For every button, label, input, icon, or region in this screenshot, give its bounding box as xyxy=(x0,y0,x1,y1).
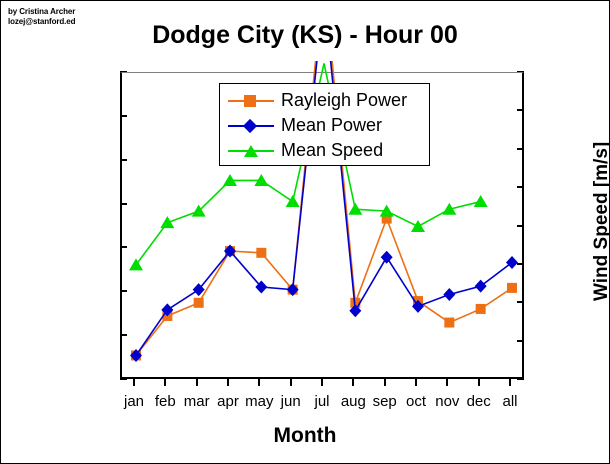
data-point-marker xyxy=(507,283,517,293)
y-axis-right-title: Wind Speed [m/s] xyxy=(591,81,610,301)
data-point-marker xyxy=(474,195,488,207)
author-name: by Cristina Archer xyxy=(8,7,75,16)
x-tick xyxy=(321,379,323,386)
x-axis-title: Month xyxy=(1,424,609,448)
data-point-marker xyxy=(160,216,174,228)
x-tick xyxy=(509,379,511,386)
series-line xyxy=(136,0,512,355)
data-point-marker xyxy=(443,288,455,301)
legend-swatch xyxy=(228,94,274,108)
x-tick xyxy=(415,379,417,386)
legend-label: Mean Speed xyxy=(281,140,383,161)
legend-item-rayleigh-power[interactable]: Rayleigh Power xyxy=(220,88,429,113)
data-point-marker xyxy=(506,256,518,269)
x-tick xyxy=(227,379,229,386)
x-tick xyxy=(478,379,480,386)
data-point-marker xyxy=(256,248,266,258)
series-line xyxy=(136,0,512,355)
x-tick xyxy=(196,379,198,386)
legend-swatch xyxy=(228,144,274,158)
x-tick xyxy=(290,379,292,386)
x-tick xyxy=(164,379,166,386)
data-point-marker xyxy=(129,258,143,270)
data-point-marker xyxy=(411,220,425,232)
x-tick xyxy=(352,379,354,386)
chart-legend: Rayleigh PowerMean PowerMean Speed xyxy=(219,83,430,166)
legend-item-mean-speed[interactable]: Mean Speed xyxy=(220,138,429,163)
legend-label: Mean Power xyxy=(281,115,382,136)
x-tick xyxy=(446,379,448,386)
diamond-marker-icon xyxy=(243,118,257,132)
legend-item-mean-power[interactable]: Mean Power xyxy=(220,113,429,138)
x-tick-label: all xyxy=(480,393,540,410)
data-point-marker xyxy=(444,318,454,328)
chart-window: by Cristina Archerlozej@stanford.ed Dodg… xyxy=(0,0,610,464)
series-rayleigh-power xyxy=(131,0,517,360)
data-point-marker xyxy=(194,298,204,308)
chart-title: Dodge City (KS) - Hour 00 xyxy=(1,21,609,50)
data-point-marker xyxy=(475,280,487,293)
square-marker-icon xyxy=(244,95,256,107)
legend-swatch xyxy=(228,119,274,133)
triangle-marker-icon xyxy=(244,145,258,157)
x-tick xyxy=(133,379,135,386)
x-tick xyxy=(258,379,260,386)
x-tick xyxy=(384,379,386,386)
data-point-marker xyxy=(286,195,300,207)
legend-label: Rayleigh Power xyxy=(281,90,407,111)
data-point-marker xyxy=(381,251,393,264)
data-point-marker xyxy=(476,304,486,314)
